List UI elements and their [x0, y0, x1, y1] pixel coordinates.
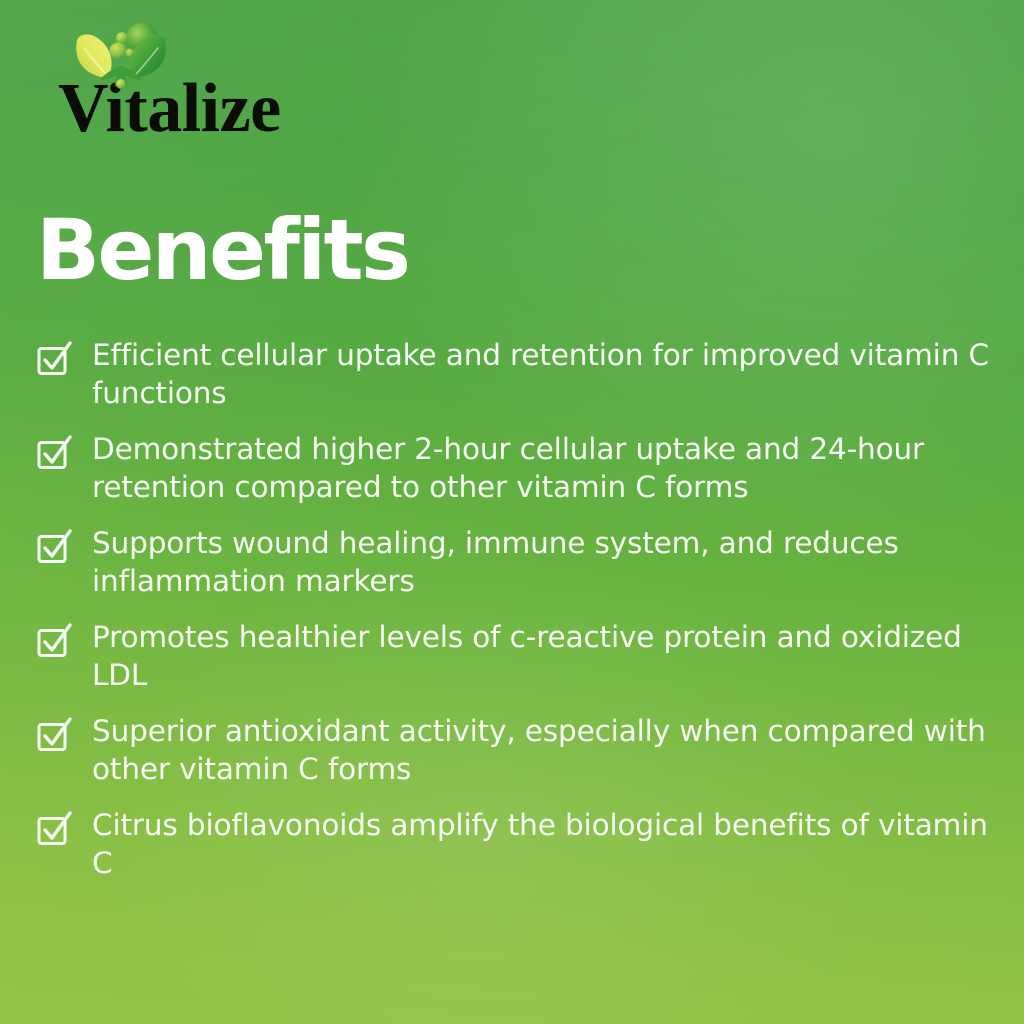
- list-item: Efficient cellular uptake and retention …: [36, 336, 1004, 412]
- list-item-label: Promotes healthier levels of c-reactive …: [92, 618, 1004, 694]
- list-item: Promotes healthier levels of c-reactive …: [36, 618, 1004, 694]
- list-item-label: Supports wound healing, immune system, a…: [92, 524, 1004, 600]
- list-item-label: Demonstrated higher 2-hour cellular upta…: [92, 430, 1004, 506]
- checkbox-check-icon: [36, 623, 72, 659]
- list-item-label: Citrus bioflavonoids amplify the biologi…: [92, 806, 1004, 882]
- list-item: Demonstrated higher 2-hour cellular upta…: [36, 430, 1004, 506]
- list-item: Superior antioxidant activity, especiall…: [36, 712, 1004, 788]
- list-item-label: Efficient cellular uptake and retention …: [92, 336, 1004, 412]
- checkbox-check-icon: [36, 341, 72, 377]
- benefits-card: Vitalize Benefits Efficient cellular upt…: [0, 0, 1024, 1024]
- checkbox-check-icon: [36, 435, 72, 471]
- brand-block: Vitalize: [58, 22, 478, 144]
- list-item-label: Superior antioxidant activity, especiall…: [92, 712, 1004, 788]
- checkbox-check-icon: [36, 811, 72, 847]
- list-item: Supports wound healing, immune system, a…: [36, 524, 1004, 600]
- checkbox-check-icon: [36, 717, 72, 753]
- list-item: Citrus bioflavonoids amplify the biologi…: [36, 806, 1004, 882]
- leaf-bubbles-icon: [64, 22, 184, 90]
- checkbox-check-icon: [36, 529, 72, 565]
- page-title: Benefits: [36, 208, 408, 294]
- benefits-list: Efficient cellular uptake and retention …: [36, 336, 1004, 900]
